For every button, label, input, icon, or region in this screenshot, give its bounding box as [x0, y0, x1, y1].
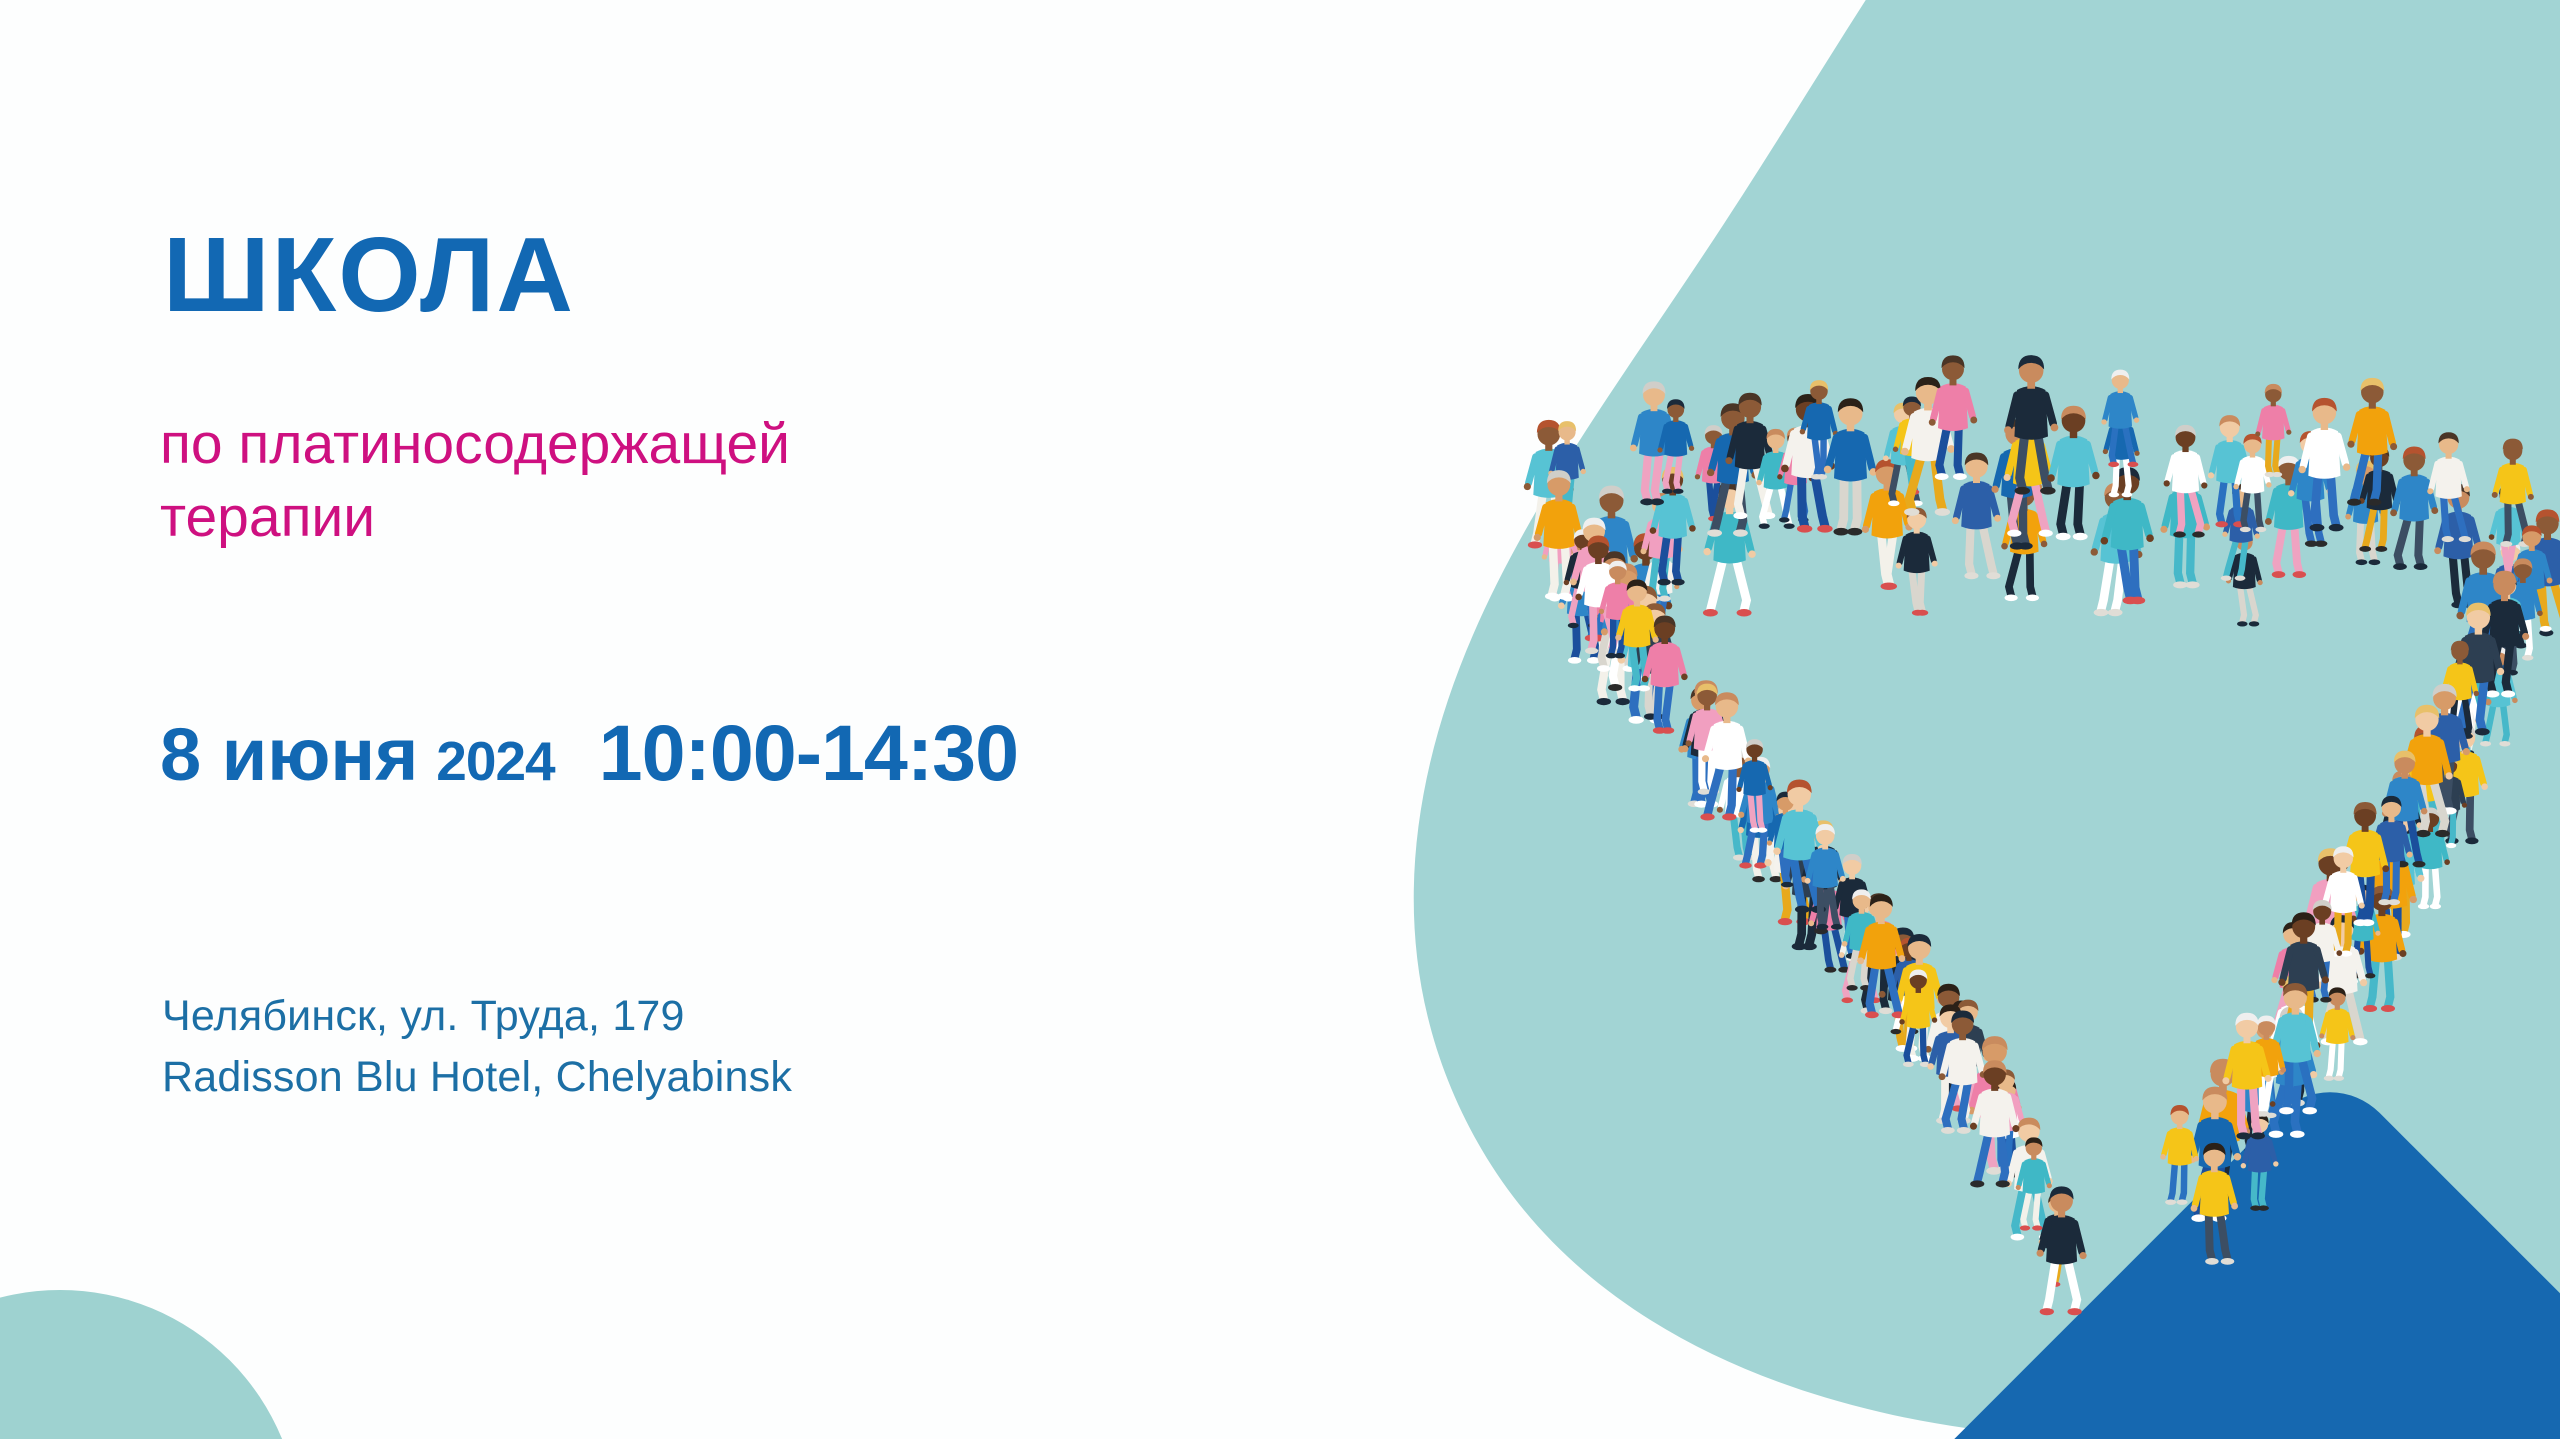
crowd-figure	[2016, 1137, 2052, 1230]
crowd-figure	[2288, 431, 2333, 547]
crowd-figure	[1879, 927, 1927, 1051]
crowd-figure	[2480, 571, 2529, 698]
crowd-figure	[2456, 542, 2510, 680]
crowd-figure	[1883, 403, 1923, 506]
page-title: ШКОЛА	[163, 222, 575, 328]
crowd-figure	[2226, 532, 2263, 627]
crowd-figure	[2344, 885, 2380, 979]
crowd-figure	[1640, 493, 1682, 602]
crowd-figure	[1901, 377, 1955, 516]
event-venue: Челябинск, ул. Труда, 179 Radisson Blu H…	[162, 986, 792, 1108]
crowd-figure	[2298, 398, 2350, 531]
crowd-figure	[1738, 757, 1781, 869]
crowd-figure	[1618, 586, 1672, 724]
crowd-figure	[1899, 969, 1937, 1067]
crowd-figure	[1939, 1010, 1987, 1133]
crowd-figure	[1564, 529, 1602, 628]
crowd-figure	[1630, 381, 1678, 505]
crowd-figure	[1615, 580, 1659, 692]
crowd-figure	[2004, 355, 2058, 494]
crowd-figure	[1832, 854, 1873, 959]
crowd-figure	[1558, 543, 1605, 663]
crowd-figure	[1725, 393, 1775, 519]
crowd-figure	[2319, 987, 2355, 1080]
crowd-figure	[1929, 355, 1977, 480]
subtitle-line-1: по платиносодержащей	[160, 408, 790, 481]
crowd-figure	[1894, 934, 1944, 1062]
event-date-day: 8 июня	[160, 718, 418, 792]
crowd-figure	[2382, 751, 2427, 868]
crowd-figure	[1575, 535, 1621, 654]
crowd-figure	[2037, 1186, 2087, 1315]
crowd-figure	[1717, 751, 1760, 861]
crowd-figure	[1985, 1069, 2025, 1172]
crowd-figure	[1952, 453, 2001, 580]
crowd-figure	[1991, 419, 2042, 549]
event-time-range: 10:00-14:30	[599, 713, 1018, 792]
crowd-figure	[2039, 1194, 2075, 1287]
crowd-figure	[2091, 483, 2143, 616]
crowd-figure	[1927, 1004, 1973, 1124]
crowd-figure	[2419, 684, 2470, 815]
crowd-figure	[1839, 899, 1881, 1003]
crowd-figure	[1857, 894, 1905, 1018]
crowd-figure	[2489, 484, 2529, 586]
crowd-figure	[2347, 378, 2397, 506]
crowd-figure	[1620, 533, 1673, 668]
crowd-figure	[1534, 470, 1584, 600]
crowd-figure	[1678, 687, 1725, 807]
crowd-figure	[1942, 1001, 1981, 1102]
crowd-figure	[1824, 398, 1877, 535]
crowd-figure	[1695, 425, 1732, 521]
crowd-figure	[1700, 692, 1751, 820]
crowd-figure	[1782, 816, 1834, 950]
crowd-figure	[1736, 739, 1772, 833]
crowd-figure	[2322, 846, 2365, 956]
crowd-figure	[2488, 575, 2527, 675]
crowd-figure	[1570, 518, 1618, 642]
crowd-figure	[2246, 1019, 2285, 1118]
crowd-figure	[1842, 889, 1881, 990]
crowd-figure	[2189, 1087, 2242, 1222]
crowd-figure	[1764, 795, 1815, 925]
crowd-figure	[2101, 467, 2154, 604]
crowd-figure	[1685, 684, 1728, 795]
crowd-figure	[2208, 415, 2252, 527]
crowd-figure	[1591, 551, 1638, 672]
crowd-figure	[1946, 1000, 1990, 1112]
crowd-figure	[1642, 616, 1688, 734]
crowd-figure	[2265, 456, 2312, 578]
crowd-figure	[2247, 1016, 2286, 1117]
text-column: ШКОЛА по платиносодержащей терапии 8 июн…	[160, 0, 1360, 1439]
crowd-figure	[2103, 402, 2140, 497]
crowd-figure	[1632, 603, 1677, 720]
crowd-figure	[1855, 893, 1902, 1014]
crowd-figure	[1890, 938, 1928, 1034]
crowd-figure	[2446, 639, 2492, 756]
event-datetime: 8 июня 2024 10:00-14:30	[160, 713, 1018, 792]
crowd-figure	[2523, 509, 2560, 636]
crowd-figure	[2345, 460, 2386, 565]
crowd-figure	[2390, 447, 2438, 571]
page-subtitle: по платиносодержащей терапии	[160, 408, 790, 554]
crowd-figure	[2047, 406, 2099, 540]
crowd-figure	[2270, 983, 2321, 1114]
crowd-figure	[1777, 428, 1814, 523]
crowd-figure	[2427, 432, 2471, 542]
crowd-figure	[2233, 434, 2271, 532]
crowd-figure	[2221, 484, 2260, 581]
crowd-figure	[1968, 1036, 2022, 1175]
crowd-figure	[2359, 446, 2400, 552]
crowd-figure	[1801, 820, 1845, 934]
crowd-figure	[2160, 461, 2210, 589]
crowd-figure	[2160, 1105, 2199, 1205]
crowd-figure	[2453, 603, 2505, 736]
crowd-figure	[1589, 575, 1640, 705]
crowd-figure	[2236, 1051, 2275, 1152]
crowd-figure	[1650, 467, 1696, 585]
crowd-figure	[2304, 848, 2358, 985]
crowd-figure	[2365, 828, 2417, 961]
crowd-figure	[2401, 726, 2450, 852]
crowd-figure	[2003, 409, 2053, 537]
crowd-figure	[2241, 1113, 2279, 1210]
crowd-figure	[2302, 900, 2342, 1003]
crowd-figure	[2317, 915, 2368, 1045]
crowd-figure	[1896, 508, 1938, 616]
crowd-figure	[1585, 486, 1638, 622]
crowd-figure	[1862, 459, 1913, 590]
crowd-figure	[2370, 796, 2413, 905]
subtitle-line-2: терапии	[160, 481, 790, 554]
crowd-figure	[1756, 429, 1795, 529]
crowd-figure	[1767, 792, 1804, 888]
crowd-figure	[1599, 561, 1637, 659]
venue-name: Radisson Blu Hotel, Chelyabinsk	[162, 1047, 792, 1108]
crowd-figure	[2438, 663, 2481, 775]
crowd-figure	[1738, 769, 1783, 882]
crowd-figure	[1773, 780, 1826, 913]
crowd-figure	[1657, 399, 1694, 494]
crowd-figure	[1601, 563, 1651, 691]
crowd-figure	[2434, 484, 2482, 608]
teal-blob-right	[1414, 0, 2560, 1439]
crowd-figure	[2511, 525, 2552, 631]
crowd-figure	[1703, 482, 1756, 617]
crowd-figure	[1893, 396, 1931, 494]
crowd-figure	[1707, 403, 1759, 536]
crowd-figure	[2489, 540, 2531, 649]
crowd-figure	[2492, 439, 2534, 547]
crowd-figure	[2191, 1143, 2238, 1265]
crowd-figure	[2196, 1059, 2250, 1199]
venue-address: Челябинск, ул. Труда, 179	[162, 986, 792, 1047]
event-date-year: 2024	[436, 734, 554, 789]
crowd-figure	[1988, 1079, 2026, 1177]
crowd-figure	[1925, 984, 1972, 1106]
crowd-figure	[1643, 538, 1679, 631]
crowd-figure	[2441, 725, 2487, 844]
crowd-figure	[2374, 809, 2424, 938]
crowd-figure	[2357, 886, 2406, 1012]
crowd-figure	[1542, 505, 1579, 601]
crowd-figure	[1800, 380, 1839, 479]
crowd-figure	[2341, 802, 2389, 926]
crowd-figure	[2431, 755, 2467, 848]
crowd-figure	[2382, 771, 2423, 876]
crowd-figure	[2278, 912, 2329, 1042]
crowd-figure	[2101, 370, 2139, 468]
crowd-figure	[1970, 1060, 2019, 1187]
crowd-figure	[2501, 558, 2543, 660]
blue-rounded-square-bottom-right	[1863, 1063, 2560, 1439]
crowd-figure	[2441, 641, 2479, 739]
crowd-figure	[2479, 647, 2518, 747]
crowd-figure	[2410, 808, 2450, 910]
crowd-figure	[1781, 394, 1835, 533]
crowd-figure	[2001, 482, 2047, 601]
poster-canvas: ШКОЛА по платиносодержащей терапии 8 июн…	[0, 0, 2560, 1439]
crowd-figure	[1681, 680, 1731, 807]
crowd-figure	[2222, 1013, 2271, 1140]
crowd-figure	[2269, 975, 2320, 1107]
crowd-figure	[2266, 1006, 2317, 1137]
crowd-figure	[1524, 420, 1574, 549]
crowd-figure	[1808, 866, 1850, 973]
crowd-figure	[2270, 922, 2315, 1034]
crowd-figure	[2401, 705, 2453, 838]
crowd-figure	[2255, 384, 2291, 477]
crowd-figure	[2164, 425, 2208, 538]
crowd-figure	[2005, 1118, 2053, 1241]
crowd-figure	[1548, 421, 1586, 518]
crowd-figure	[1805, 824, 1846, 930]
